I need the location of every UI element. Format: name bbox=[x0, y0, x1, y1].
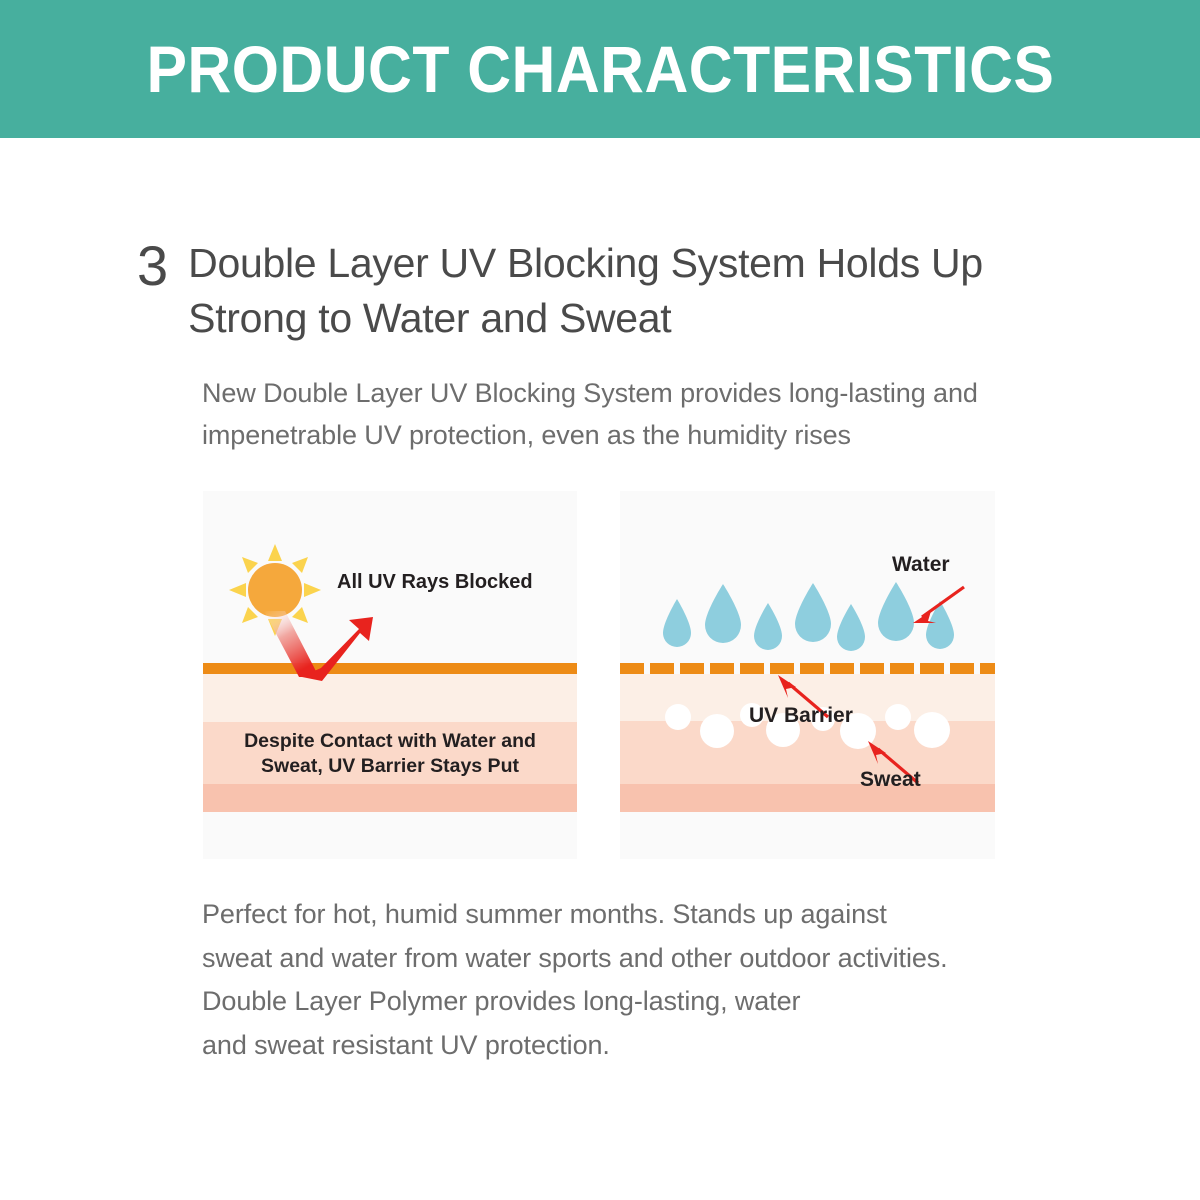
sweat-label: Sweat bbox=[860, 768, 921, 792]
skin-layer-hypodermis bbox=[203, 784, 577, 812]
sweat-dot bbox=[885, 704, 911, 730]
body-line-1: Perfect for hot, humid summer months. St… bbox=[202, 893, 1082, 937]
left-caption-line-1: Despite Contact with Water and bbox=[203, 729, 577, 754]
left-panel-caption: Despite Contact with Water and Sweat, UV… bbox=[203, 729, 577, 780]
header-band: PRODUCT CHARACTERISTICS bbox=[0, 0, 1200, 138]
water-label: Water bbox=[892, 553, 950, 577]
body-line-4: and sweat resistant UV protection. bbox=[202, 1024, 1082, 1068]
step-number: 3 bbox=[137, 238, 168, 294]
sweat-dot-group bbox=[620, 491, 995, 821]
left-caption-line-2: Sweat, UV Barrier Stays Put bbox=[203, 754, 577, 779]
sweat-dot bbox=[700, 714, 734, 748]
water-pointer-arrow bbox=[904, 583, 968, 627]
page-title: PRODUCT CHARACTERISTICS bbox=[146, 31, 1054, 107]
uv-blocked-label: All UV Rays Blocked bbox=[337, 571, 533, 594]
uv-ray-bounce-arrow bbox=[261, 611, 401, 687]
body-line-3: Double Layer Polymer provides long-lasti… bbox=[202, 980, 1082, 1024]
section-subheading: New Double Layer UV Blocking System prov… bbox=[202, 373, 1032, 457]
body-copy: Perfect for hot, humid summer months. St… bbox=[202, 893, 1082, 1068]
body-line-2: sweat and water from water sports and ot… bbox=[202, 937, 1082, 981]
section-heading-row: 3 Double Layer UV Blocking System Holds … bbox=[137, 236, 1097, 345]
water-sweat-resistance-diagram: Water UV Barrier Sweat bbox=[620, 491, 995, 859]
uv-blocking-diagram: All UV Rays Blocked Despite Contact with… bbox=[203, 491, 577, 859]
illustration-panels: All UV Rays Blocked Despite Contact with… bbox=[203, 491, 995, 859]
infographic-page: PRODUCT CHARACTERISTICS 3 Double Layer U… bbox=[0, 0, 1200, 1200]
sweat-dot bbox=[665, 704, 691, 730]
section-heading: Double Layer UV Blocking System Holds Up… bbox=[188, 236, 1088, 345]
uv-barrier-label: UV Barrier bbox=[749, 704, 853, 728]
